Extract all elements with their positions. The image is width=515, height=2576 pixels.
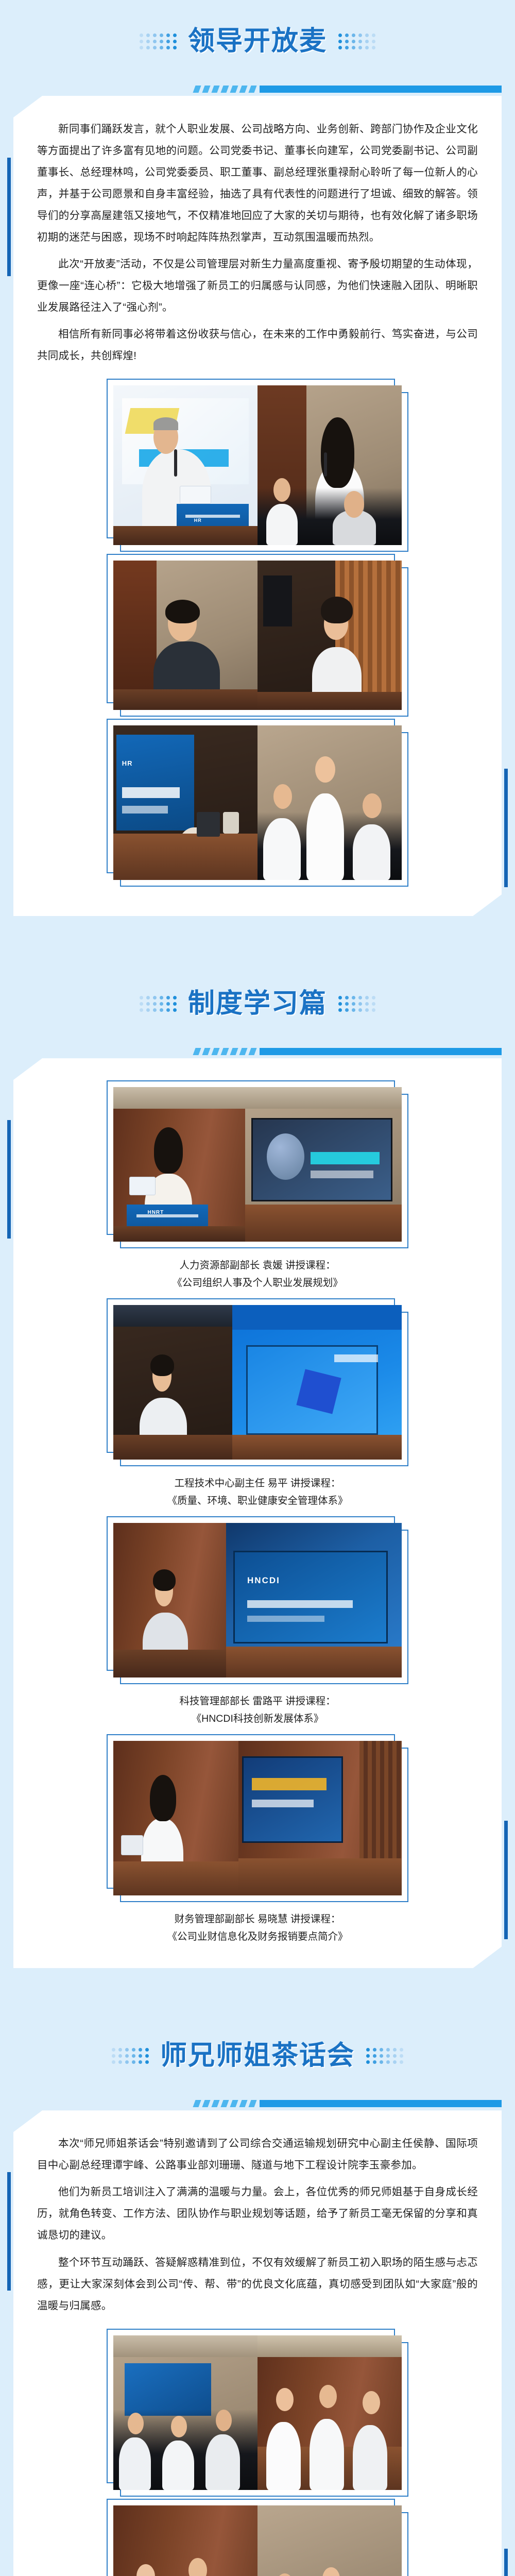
- paragraph: 相信所有新同事必将带着这份收获与信心，在未来的工作中勇毅前行、笃实奋进，与公司共…: [37, 324, 478, 367]
- presenter-line: 工程技术中心副主任 易平 讲授课程：: [72, 1475, 443, 1493]
- section-title: 制度学习篇: [188, 990, 327, 1017]
- photo-frame: HR: [113, 385, 402, 545]
- section-title: 师兄师姐茶话会: [160, 2042, 355, 2069]
- course-title: 《公司组织人事及个人职业发展规划》: [72, 1275, 443, 1292]
- presenter-line: 财务管理部副部长 易晓慧 讲授课程：: [72, 1911, 443, 1928]
- dot-grid-left-icon: [140, 33, 177, 49]
- paragraph: 他们为新员工培训注入了满满的温暖与力量。会上，各位优秀的师兄师姐基于自身成长经历…: [37, 2181, 478, 2246]
- course-caption: 科技管理部部长 雷路平 讲授课程： 《HNCDI科技创新发展体系》: [72, 1693, 443, 1727]
- photo-frame: [113, 2335, 402, 2490]
- photo-frame: [113, 2505, 402, 2576]
- section-header-senior-tea-party: 师兄师姐茶话会: [0, 2014, 515, 2097]
- photo-manager-and-audience: [113, 561, 402, 710]
- decor-bar-section3: [13, 2097, 502, 2110]
- course-caption: 人力资源部副部长 袁媛 讲授课程： 《公司组织人事及个人职业发展规划》: [72, 1257, 443, 1292]
- dot-grid-left-icon: [140, 996, 177, 1012]
- photo-frame: HNCDI: [113, 1523, 402, 1677]
- section-header-leader-open-mic: 领导开放麦: [0, 0, 515, 82]
- presenter-line: 科技管理部部长 雷路平 讲授课程：: [72, 1693, 443, 1710]
- decor-bar-section2: [13, 1045, 502, 1058]
- photo-frame: HNRT: [113, 1087, 402, 1242]
- paragraph: 新同事们踊跃发言，就个人职业发展、公司战略方向、业务创新、跨部门协作及企业文化等…: [37, 118, 478, 248]
- course-title: 《HNCDI科技创新发展体系》: [72, 1710, 443, 1728]
- dot-grid-right-icon: [366, 2048, 403, 2064]
- course-caption: 工程技术中心副主任 易平 讲授课程： 《质量、环境、职业健康安全管理体系》: [72, 1475, 443, 1510]
- photo-course-finance: [113, 1741, 402, 1895]
- newsletter-page: 领导开放麦 新同事们踊跃发言，就个人职业发展、公司战略方向、业务创新、跨部门协作…: [0, 0, 515, 2576]
- photo-frame: HR: [113, 725, 402, 880]
- content-panel-section3: 本次“师兄师姐茶话会”特别邀请到了公司综合交通运输规划研究中心副主任侯静、国际项…: [0, 2110, 515, 2576]
- course-title: 《公司业财信息化及财务报销要点简介》: [72, 1928, 443, 1946]
- course-caption: 财务管理部副部长 易晓慧 讲授课程： 《公司业财信息化及财务报销要点简介》: [72, 1911, 443, 1945]
- photo-podium-and-seats: HR: [113, 725, 402, 880]
- content-panel-section1: 新同事们踊跃发言，就个人职业发展、公司战略方向、业务创新、跨部门协作及企业文化等…: [0, 96, 515, 934]
- photo-tea-party-discussion: [113, 2505, 402, 2576]
- photo-course-engineering: [113, 1305, 402, 1460]
- section-header-system-study: 制度学习篇: [0, 962, 515, 1045]
- dot-grid-right-icon: [338, 33, 375, 49]
- decor-bar-section1: [13, 82, 502, 96]
- paragraph: 整个环节互动踊跃、答疑解惑精准到位，不仅有效缓解了新员工初入职场的陌生感与忐忑感…: [37, 2252, 478, 2317]
- photo-frame: [113, 1741, 402, 1895]
- dot-grid-right-icon: [338, 996, 375, 1012]
- photo-frame: [113, 1305, 402, 1460]
- photo-course-technology: HNCDI: [113, 1523, 402, 1677]
- photo-frame: [113, 561, 402, 710]
- course-title: 《质量、环境、职业健康安全管理体系》: [72, 1493, 443, 1510]
- paragraph: 此次“开放麦”活动，不仅是公司管理层对新生力量高度重视、寄予殷切期望的生动体现，…: [37, 253, 478, 318]
- section-title: 领导开放麦: [188, 28, 327, 55]
- presenter-line: 人力资源部副部长 袁媛 讲授课程：: [72, 1257, 443, 1275]
- photo-tea-party-wide: [113, 2335, 402, 2490]
- content-panel-section2: HNRT: [0, 1058, 515, 1986]
- photo-course-hr: HNRT: [113, 1087, 402, 1242]
- paragraph: 本次“师兄师姐茶话会”特别邀请到了公司综合交通运输规划研究中心副主任侯静、国际项…: [37, 2133, 478, 2176]
- photo-chairman-speaking: HR: [113, 385, 402, 545]
- dot-grid-left-icon: [112, 2048, 149, 2064]
